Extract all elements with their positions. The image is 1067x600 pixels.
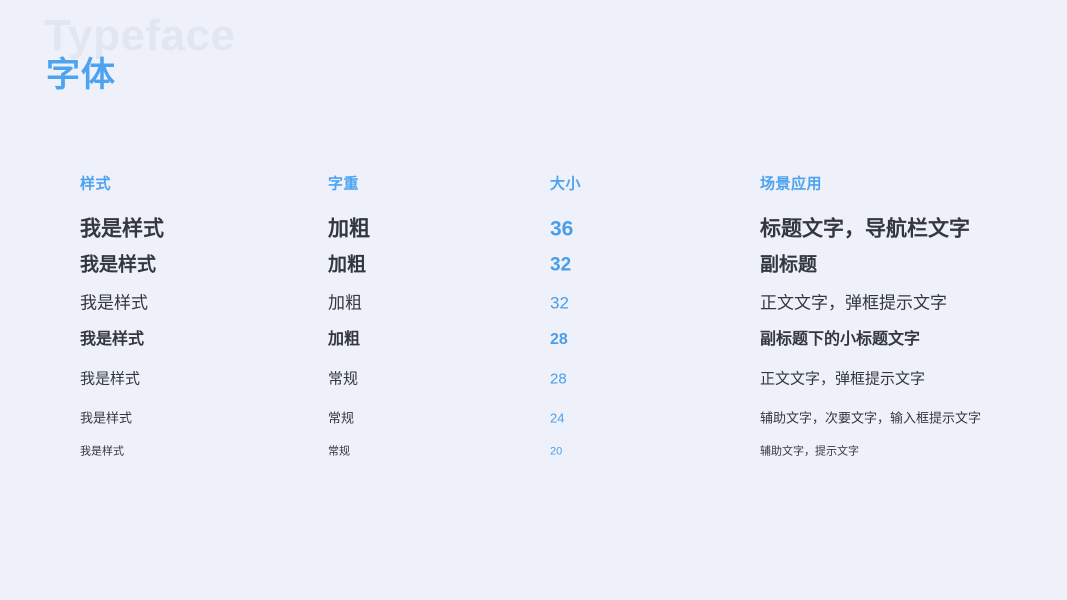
- usage-label: 正文文字，弹框提示文字: [760, 372, 925, 387]
- usage-label: 副标题下的小标题文字: [760, 332, 920, 348]
- weight-label: 加粗: [328, 332, 360, 348]
- typography-table: 样式 字重 大小 场景应用 我是样式加粗36标题文字，导航栏文字我是样式加粗32…: [0, 0, 1067, 600]
- column-header-style: 样式: [80, 177, 111, 192]
- slide-root: Typeface 字体 样式 字重 大小 场景应用 我是样式加粗36标题文字，导…: [0, 0, 1067, 600]
- style-sample: 我是样式: [80, 332, 144, 348]
- size-value: 24: [550, 412, 564, 425]
- size-value: 36: [550, 219, 573, 240]
- size-value: 28: [550, 372, 567, 387]
- usage-label: 辅助文字，次要文字，输入框提示文字: [760, 412, 981, 425]
- usage-label: 标题文字，导航栏文字: [760, 219, 970, 240]
- size-value: 32: [550, 295, 569, 312]
- size-value: 20: [550, 447, 562, 458]
- weight-label: 加粗: [328, 295, 362, 312]
- weight-label: 常规: [328, 372, 358, 387]
- weight-label: 常规: [328, 447, 350, 458]
- style-sample: 我是样式: [80, 219, 164, 240]
- column-header-weight: 字重: [328, 177, 359, 192]
- usage-label: 辅助文字，提示文字: [760, 447, 859, 458]
- column-header-usage: 场景应用: [760, 177, 822, 192]
- style-sample: 我是样式: [80, 256, 156, 275]
- size-value: 28: [550, 332, 568, 348]
- weight-label: 加粗: [328, 256, 366, 275]
- style-sample: 我是样式: [80, 412, 132, 425]
- weight-label: 常规: [328, 412, 354, 425]
- weight-label: 加粗: [328, 219, 370, 240]
- usage-label: 副标题: [760, 256, 817, 275]
- style-sample: 我是样式: [80, 295, 148, 312]
- size-value: 32: [550, 256, 571, 275]
- column-header-size: 大小: [550, 177, 581, 192]
- style-sample: 我是样式: [80, 372, 140, 387]
- usage-label: 正文文字，弹框提示文字: [760, 295, 947, 312]
- style-sample: 我是样式: [80, 447, 124, 458]
